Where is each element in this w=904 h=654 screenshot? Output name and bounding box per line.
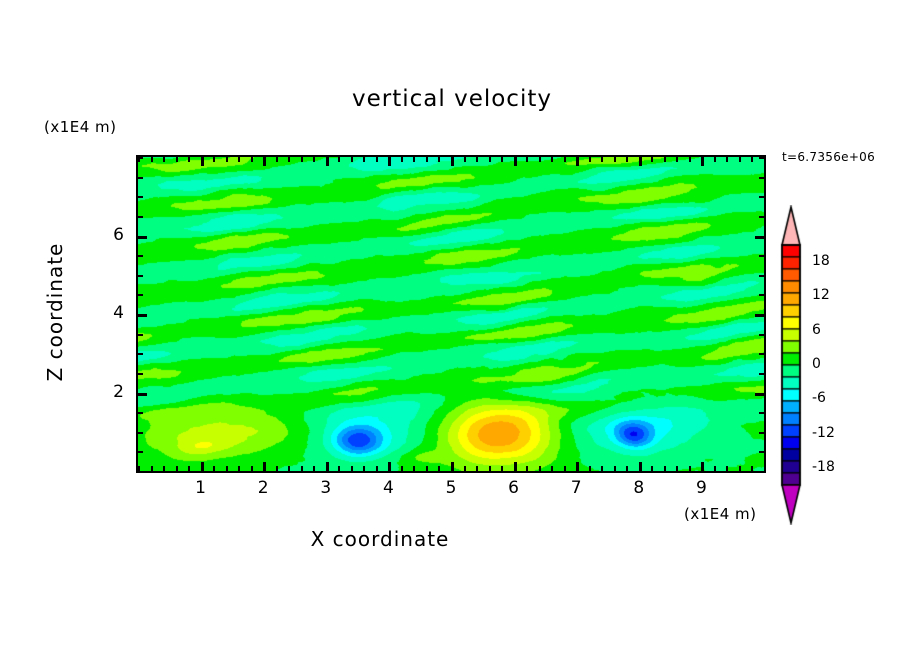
tick-mark [739,466,741,471]
tick-mark [651,466,653,471]
tick-mark [539,466,541,471]
tick-mark [759,451,764,453]
colorbar [778,205,808,525]
tick-mark [138,275,143,277]
tick-mark [238,466,240,471]
tick-mark [351,157,353,162]
tick-mark [413,466,415,471]
tick-mark [188,157,190,162]
tick-mark [163,157,165,162]
tick-mark [689,157,691,162]
tick-mark [276,466,278,471]
tick-mark [238,157,240,162]
tick-mark [138,451,143,453]
colorbar-gradient [778,205,808,525]
y-axis-units-label: (x1E4 m) [44,118,117,136]
tick-mark [759,157,764,159]
tick-mark [564,157,566,162]
tick-mark [626,157,628,162]
tick-mark [388,462,391,471]
tick-mark [689,466,691,471]
tick-mark [401,157,403,162]
tick-mark [138,373,143,375]
colorbar-tick-label: 18 [812,253,830,269]
tick-mark [451,462,454,471]
tick-mark [176,157,178,162]
tick-mark [501,466,503,471]
tick-mark [759,412,764,414]
tick-mark [755,314,764,317]
tick-mark [288,466,290,471]
y-tick-label: 2 [100,382,124,402]
tick-mark [138,177,143,179]
tick-mark [589,466,591,471]
tick-mark [151,157,153,162]
tick-mark [138,334,143,336]
tick-mark [301,466,303,471]
tick-mark [526,466,528,471]
tick-mark [276,157,278,162]
tick-mark [614,157,616,162]
tick-mark [639,462,642,471]
tick-mark [363,466,365,471]
tick-mark [589,157,591,162]
tick-mark [514,157,517,166]
tick-mark [438,466,440,471]
tick-mark [301,157,303,162]
tick-mark [701,462,704,471]
tick-mark [251,157,253,162]
tick-mark [413,157,415,162]
tick-mark [564,466,566,471]
tick-mark [138,393,147,396]
tick-mark [501,157,503,162]
tick-mark [376,466,378,471]
y-axis-title: Z coordinate [43,222,67,402]
tick-mark [176,466,178,471]
tick-mark [489,466,491,471]
x-tick-label: 3 [306,478,346,498]
tick-mark [363,157,365,162]
tick-mark [601,157,603,162]
tick-mark [626,466,628,471]
tick-mark [726,466,728,471]
tick-mark [138,255,143,257]
colorbar-tick-label: -6 [812,390,826,406]
tick-mark [551,466,553,471]
x-axis-title: X coordinate [0,527,760,551]
y-tick-label: 4 [100,303,124,323]
tick-mark [759,255,764,257]
tick-mark [201,157,204,166]
tick-mark [326,462,329,471]
plot-frame [136,155,766,473]
tick-mark [664,157,666,162]
tick-mark [664,466,666,471]
tick-mark [138,314,147,317]
tick-mark [251,466,253,471]
tick-mark [313,466,315,471]
timestamp-annotation: t=6.7356e+06 [782,150,875,164]
y-tick-label: 6 [100,225,124,245]
tick-mark [759,373,764,375]
tick-mark [576,462,579,471]
page-title: vertical velocity [0,86,904,112]
tick-mark [701,157,704,166]
tick-mark [401,466,403,471]
tick-mark [388,157,391,166]
tick-mark [576,157,579,166]
x-tick-label: 6 [494,478,534,498]
tick-mark [601,466,603,471]
tick-mark [759,216,764,218]
x-tick-label: 8 [619,478,659,498]
tick-mark [714,157,716,162]
tick-mark [476,157,478,162]
tick-mark [138,294,143,296]
tick-mark [489,157,491,162]
tick-mark [426,466,428,471]
tick-mark [138,157,143,159]
tick-mark [288,157,290,162]
colorbar-tick-label: -12 [812,425,835,441]
tick-mark [759,334,764,336]
tick-mark [514,462,517,471]
tick-mark [201,462,204,471]
tick-mark [351,466,353,471]
tick-mark [163,466,165,471]
tick-mark [138,216,143,218]
tick-mark [759,294,764,296]
tick-mark [263,462,266,471]
x-tick-label: 9 [681,478,721,498]
tick-mark [451,157,454,166]
colorbar-tick-label: 6 [812,322,821,338]
tick-mark [759,432,764,434]
tick-mark [639,157,642,166]
x-tick-label: 2 [243,478,283,498]
tick-mark [138,432,143,434]
colorbar-tick-label: 0 [812,356,821,372]
tick-mark [676,466,678,471]
tick-mark [759,177,764,179]
tick-mark [651,157,653,162]
tick-mark [759,275,764,277]
tick-mark [726,157,728,162]
tick-mark [226,466,228,471]
tick-mark [138,353,143,355]
tick-mark [759,196,764,198]
tick-mark [539,157,541,162]
tick-mark [213,157,215,162]
tick-mark [759,353,764,355]
tick-mark [326,157,329,166]
tick-mark [464,466,466,471]
tick-mark [751,466,753,471]
tick-mark [226,157,228,162]
tick-mark [426,157,428,162]
tick-mark [755,236,764,239]
tick-mark [755,393,764,396]
tick-mark [526,157,528,162]
tick-mark [714,466,716,471]
tick-mark [263,157,266,166]
tick-mark [313,157,315,162]
tick-mark [138,196,143,198]
tick-mark [739,157,741,162]
tick-mark [438,157,440,162]
tick-mark [213,466,215,471]
tick-mark [338,466,340,471]
x-tick-label: 1 [181,478,221,498]
tick-mark [614,466,616,471]
x-tick-label: 5 [431,478,471,498]
tick-mark [151,466,153,471]
tick-mark [338,157,340,162]
tick-mark [551,157,553,162]
tick-mark [376,157,378,162]
tick-mark [138,236,147,239]
tick-mark [188,466,190,471]
contour-field [138,157,764,471]
tick-mark [138,466,140,471]
tick-mark [138,412,143,414]
x-tick-label: 7 [556,478,596,498]
tick-mark [476,466,478,471]
colorbar-tick-label: 12 [812,287,830,303]
x-tick-label: 4 [368,478,408,498]
x-axis-units-label: (x1E4 m) [684,505,757,523]
tick-mark [751,157,753,162]
colorbar-tick-label: -18 [812,459,835,475]
tick-mark [464,157,466,162]
tick-mark [676,157,678,162]
